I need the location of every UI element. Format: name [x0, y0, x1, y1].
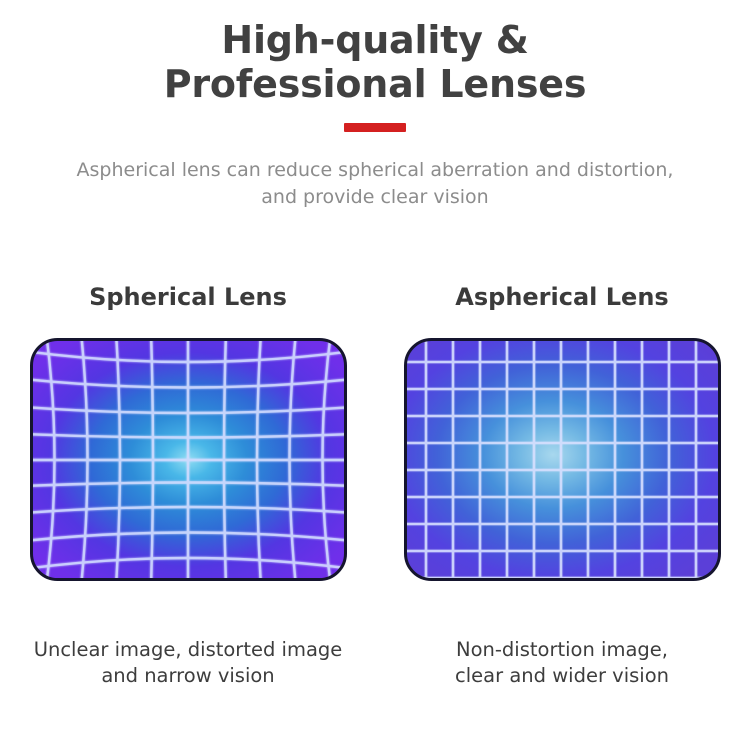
- lens-comparison-row: Spherical Lens: [0, 283, 750, 689]
- page-subtitle: Aspherical lens can reduce spherical abe…: [25, 157, 725, 211]
- page-title-line-2: Professional Lenses: [65, 62, 685, 106]
- lens-comparison-page: High-quality & Professional Lenses Asphe…: [0, 0, 750, 750]
- aspherical-lens-image: [404, 338, 721, 581]
- spherical-lens-caption: Unclear image, distorted image and narro…: [34, 637, 343, 689]
- spherical-lens-graphic: [30, 338, 347, 581]
- aspherical-lens-caption: Non-distortion image, clear and wider vi…: [455, 637, 669, 689]
- page-title-line-1: High-quality &: [65, 18, 685, 62]
- spherical-lens-image: [30, 338, 347, 581]
- aspherical-lens-graphic: [404, 338, 721, 581]
- aspherical-lens-caption-line-1: Non-distortion image,: [455, 637, 669, 663]
- page-subtitle-line-1: Aspherical lens can reduce spherical abe…: [25, 157, 725, 184]
- spherical-lens-column: Spherical Lens: [12, 283, 364, 689]
- page-subtitle-line-2: and provide clear vision: [25, 184, 725, 211]
- page-header: High-quality & Professional Lenses Asphe…: [0, 0, 750, 211]
- aspherical-lens-caption-line-2: clear and wider vision: [455, 663, 669, 689]
- page-title: High-quality & Professional Lenses: [65, 18, 685, 107]
- spherical-lens-caption-line-2: and narrow vision: [34, 663, 343, 689]
- accent-divider: [344, 123, 406, 132]
- spherical-lens-heading: Spherical Lens: [89, 283, 287, 312]
- aspherical-lens-column: Aspherical Lens: [386, 283, 738, 689]
- spherical-lens-caption-line-1: Unclear image, distorted image: [34, 637, 343, 663]
- aspherical-lens-heading: Aspherical Lens: [455, 283, 668, 312]
